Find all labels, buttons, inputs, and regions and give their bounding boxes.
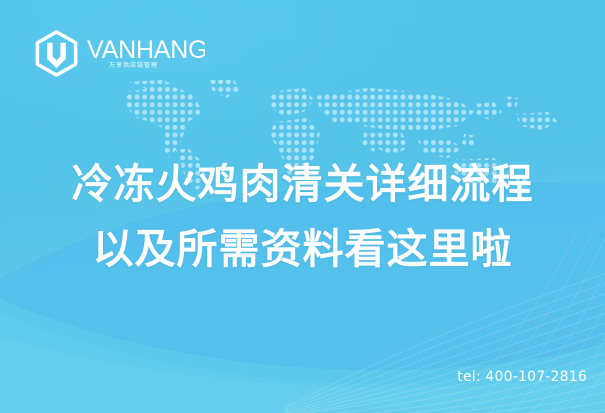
wordmark-text: VANHANG [87,36,205,64]
headline: 冷冻火鸡肉清关详细流程 以及所需资料看这里啦 [0,152,605,282]
contact-phone: tel: 400-107-2816 [457,369,587,385]
brand-wordmark: VANHANG 万享供应链管理 [87,33,199,73]
vanhang-hexagon-u-icon [33,30,80,77]
promo-banner: VANHANG 万享供应链管理 冷冻火鸡肉清关详细流程 以及所需资料看这里啦 t… [0,0,605,413]
wordmark-subtext: 万享供应链管理 [109,61,158,69]
headline-line-1: 冷冻火鸡肉清关详细流程 [0,152,605,217]
headline-line-2: 以及所需资料看这里啦 [0,217,605,282]
brand-logo: VANHANG 万享供应链管理 [33,28,199,78]
